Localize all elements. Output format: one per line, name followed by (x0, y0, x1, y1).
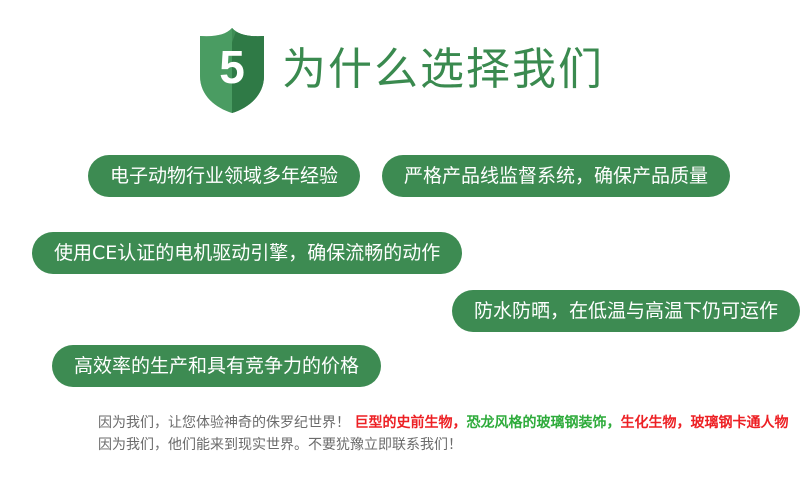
feature-pill-efficiency-price[interactable]: 高效率的生产和具有竞争力的价格 (52, 345, 381, 387)
footer-text-block: 因为我们，让您体验神奇的侏罗纪世界！ 巨型的史前生物，恐龙风格的玻璃钢装饰，生化… (0, 412, 800, 456)
feature-pill-quality-control[interactable]: 严格产品线监督系统，确保产品质量 (382, 155, 730, 197)
shield-badge: 5 (196, 26, 268, 114)
pill-row-4: 高效率的生产和具有竞争力的价格 (0, 345, 800, 387)
pill-row-1: 电子动物行业领域多年经验 严格产品线监督系统，确保产品质量 (0, 155, 800, 197)
pill-row-3: 防水防晒，在低温与高温下仍可运作 (0, 290, 800, 332)
footer-line-1: 因为我们，让您体验神奇的侏罗纪世界！ 巨型的史前生物，恐龙风格的玻璃钢装饰，生化… (98, 412, 800, 434)
footer-highlight-biochemical: 生化生物， (620, 415, 690, 431)
page-title: 为什么选择我们 (282, 48, 604, 92)
feature-pill-weatherproof[interactable]: 防水防晒，在低温与高温下仍可运作 (452, 290, 800, 332)
footer-highlight-prehistoric: 巨型的史前生物， (354, 415, 466, 431)
feature-pill-ce-motor[interactable]: 使用CE认证的电机驱动引擎，确保流畅的动作 (32, 232, 462, 274)
section-header: 5 为什么选择我们 (0, 24, 800, 116)
footer-line-2: 因为我们，他们能来到现实世界。不要犹豫立即联系我们！ (98, 434, 800, 456)
footer-highlight-cartoon-figure: 玻璃钢卡通人物 (690, 415, 788, 431)
badge-number: 5 (196, 26, 268, 114)
footer-plain-text: 因为我们，让您体验神奇的侏罗纪世界！ (98, 415, 354, 431)
feature-pill-experience[interactable]: 电子动物行业领域多年经验 (88, 155, 360, 197)
pill-row-2: 使用CE认证的电机驱动引擎，确保流畅的动作 (0, 232, 800, 274)
footer-highlight-dinosaur-decor: 恐龙风格的玻璃钢装饰， (466, 415, 620, 431)
